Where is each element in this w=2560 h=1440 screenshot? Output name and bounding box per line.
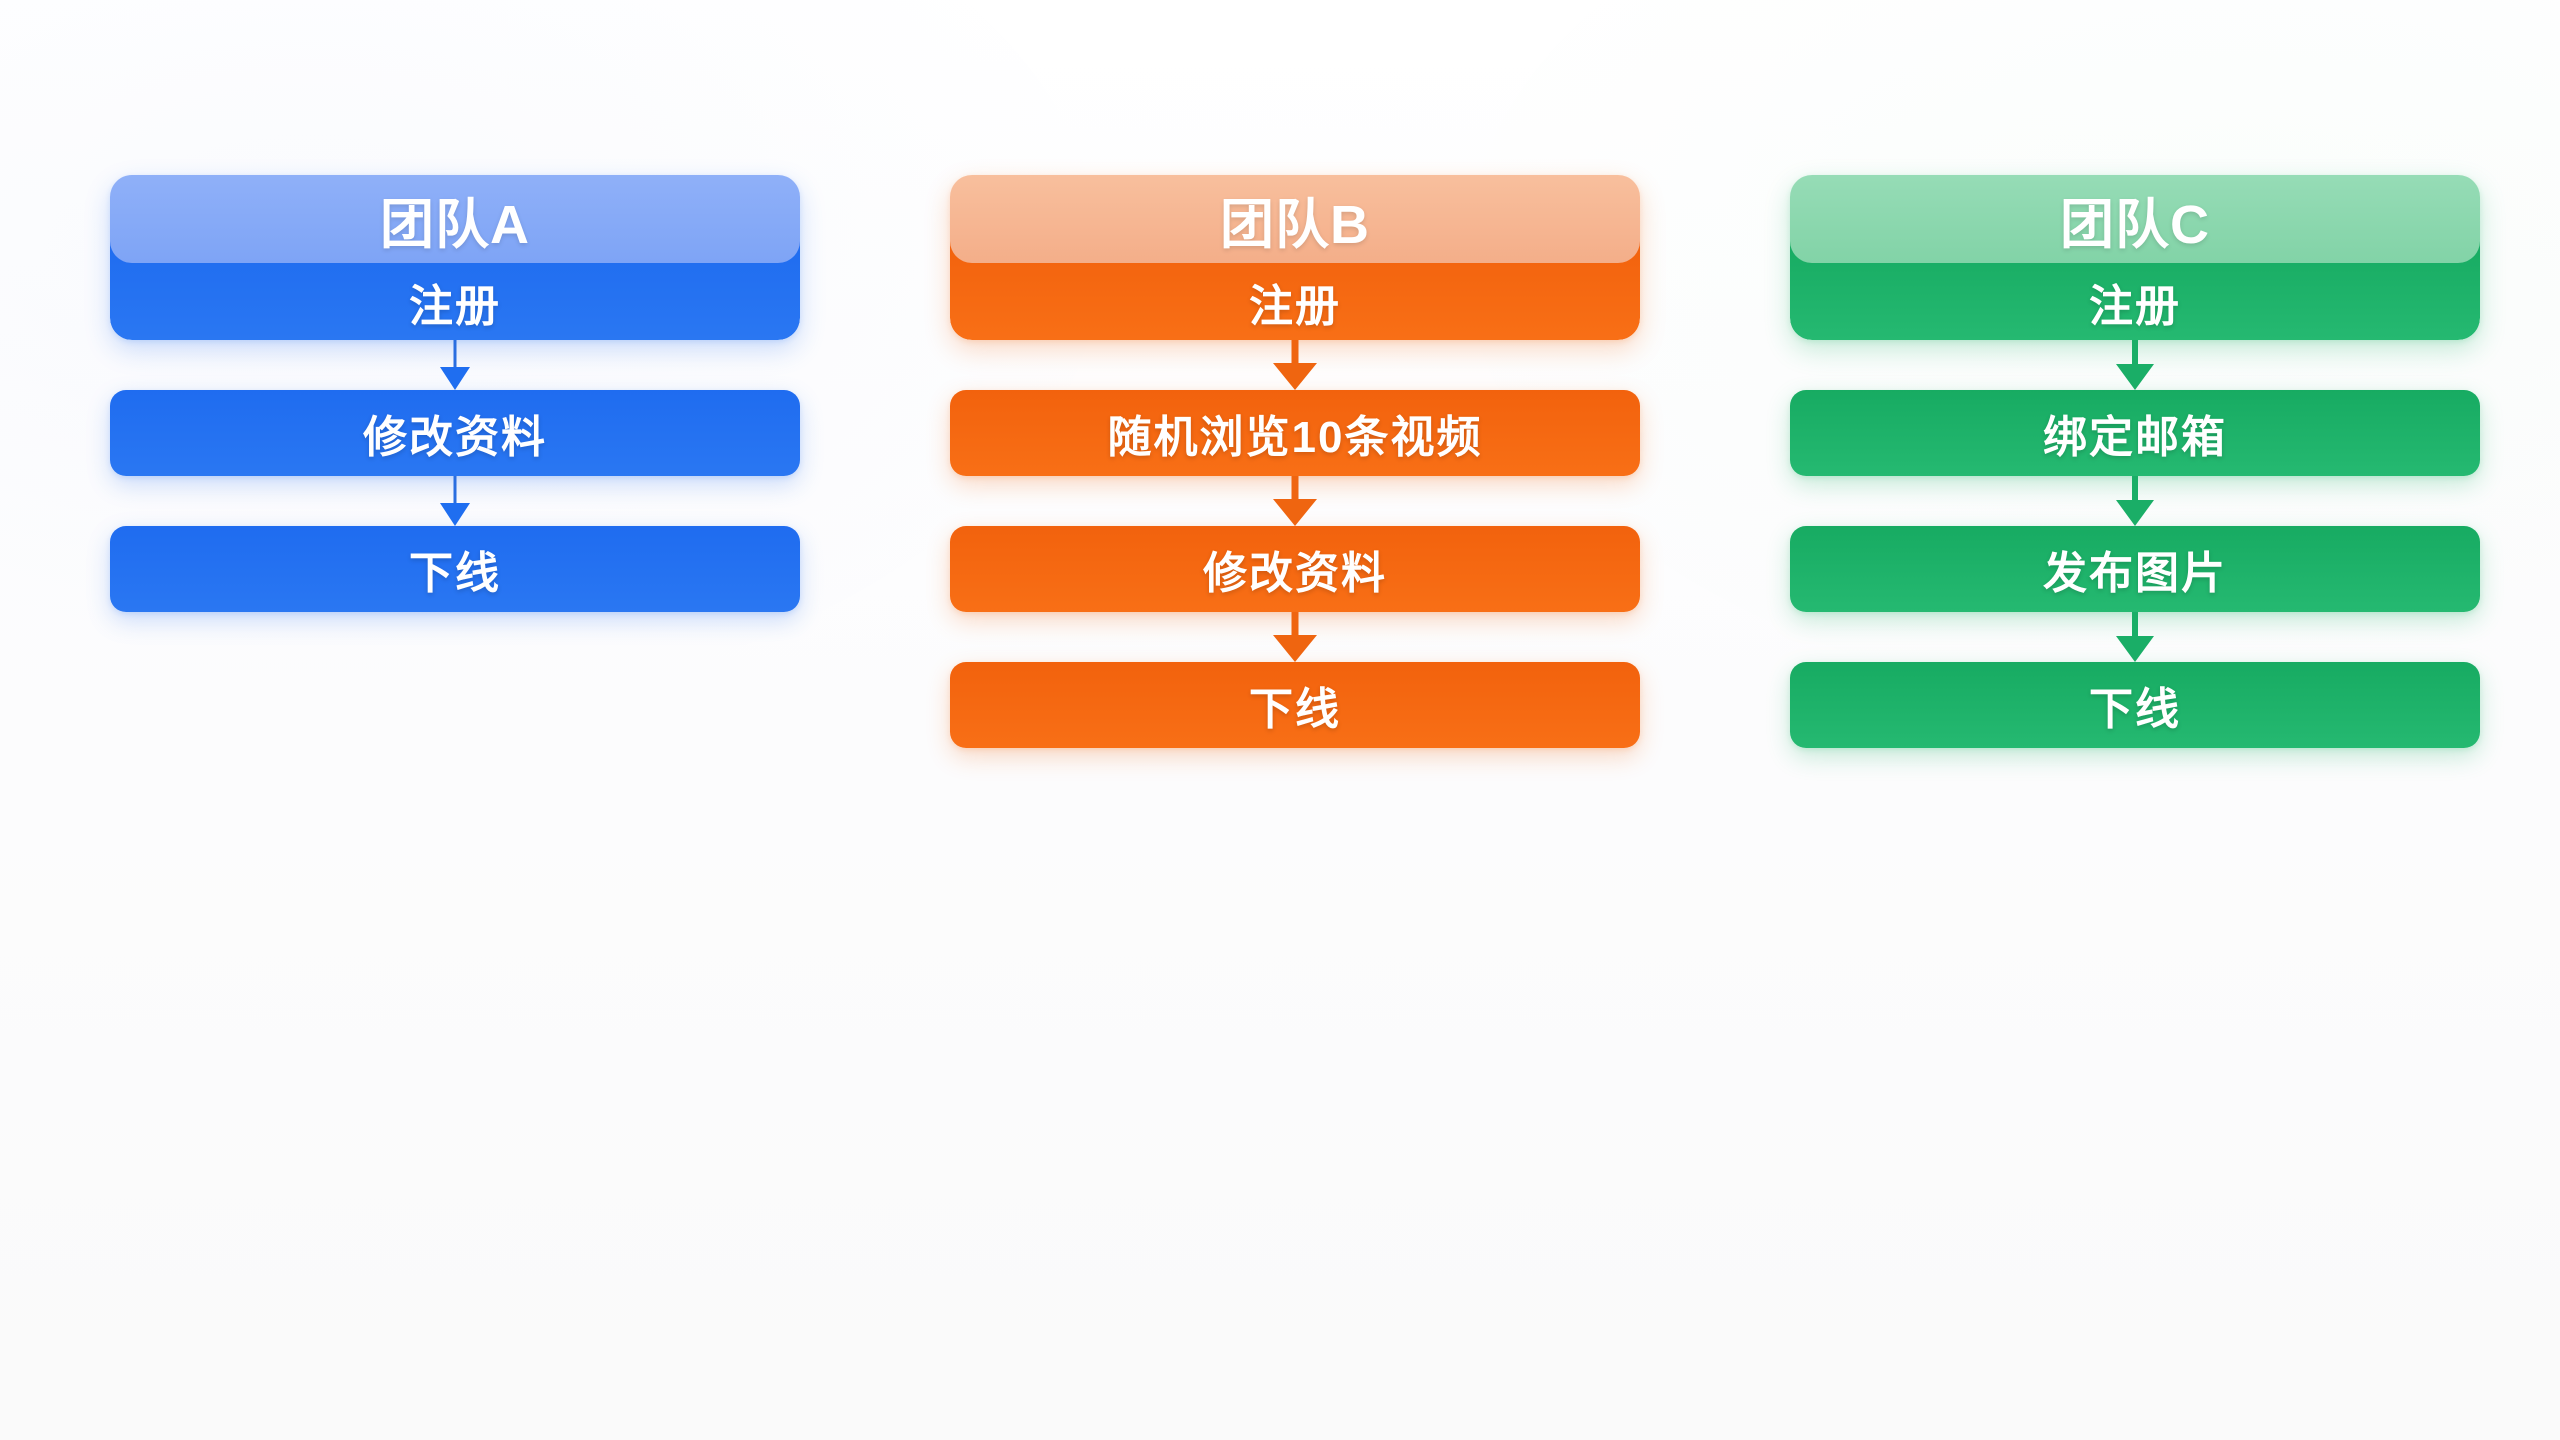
arrow-head-icon [1273,499,1317,526]
team-a-title: 团队A [110,175,800,263]
arrow-head-icon [440,367,470,390]
team-c-step-2[interactable]: 绑定邮箱 [1790,390,2480,476]
arrow-head-icon [440,503,470,526]
arrow-head-icon [2116,636,2154,662]
team-b-header-card: 团队B 注册 [950,175,1640,340]
team-b-step-4[interactable]: 下线 [950,662,1640,748]
team-column-c: 团队C 注册 绑定邮箱 发布图片 下线 [1790,175,2480,748]
team-column-b: 团队B 注册 随机浏览10条视频 修改资料 下线 [950,175,1640,748]
team-c-arrow-1 [1790,340,2480,390]
team-b-title: 团队B [950,175,1640,263]
team-b-step-3[interactable]: 修改资料 [950,526,1640,612]
team-b-arrow-2 [950,476,1640,526]
team-c-arrow-3 [1790,612,2480,662]
arrow-head-icon [2116,364,2154,390]
arrow-head-icon [1273,363,1317,390]
team-c-arrow-2 [1790,476,2480,526]
team-b-arrow-3 [950,612,1640,662]
team-c-step-4[interactable]: 下线 [1790,662,2480,748]
team-c-title: 团队C [1790,175,2480,263]
team-c-step-3[interactable]: 发布图片 [1790,526,2480,612]
team-a-step-2[interactable]: 修改资料 [110,390,800,476]
team-a-step-3[interactable]: 下线 [110,526,800,612]
team-a-arrow-1 [110,340,800,390]
team-a-arrow-2 [110,476,800,526]
arrow-head-icon [2116,500,2154,526]
flowchart-board: 团队A 注册 修改资料 下线 团队B 注册 随机浏览10条视频 修改资料 [0,0,2560,1440]
team-b-arrow-1 [950,340,1640,390]
arrow-head-icon [1273,635,1317,662]
team-column-a: 团队A 注册 修改资料 下线 [110,175,800,612]
team-c-header-card: 团队C 注册 [1790,175,2480,340]
team-a-header-card: 团队A 注册 [110,175,800,340]
team-b-step-2[interactable]: 随机浏览10条视频 [950,390,1640,476]
